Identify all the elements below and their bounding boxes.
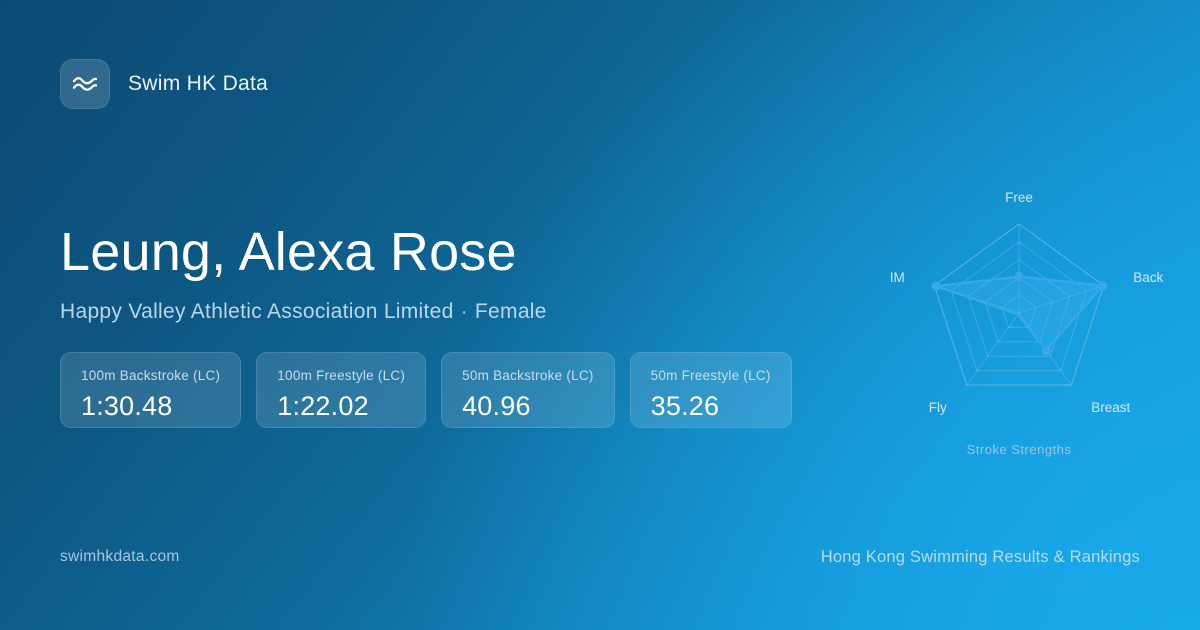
meta-separator: · <box>454 300 475 323</box>
radar-point-breast <box>1042 346 1051 355</box>
stat-value: 35.26 <box>651 393 771 420</box>
list-item: 50m Backstroke (LC) 40.96 <box>441 352 615 428</box>
stat-value: 1:22.02 <box>277 393 405 420</box>
stat-label: 50m Freestyle (LC) <box>651 369 771 383</box>
list-item: 100m Backstroke (LC) 1:30.48 <box>60 352 241 428</box>
stat-label: 100m Freestyle (LC) <box>277 369 405 383</box>
radar-spoke <box>967 313 1019 385</box>
radar-point-back <box>1098 281 1107 290</box>
radar-label-breast: Breast <box>1091 400 1130 415</box>
og-card-canvas: Swim HK Data Leung, Alexa Rose Happy Val… <box>0 0 1200 630</box>
chart-caption: Stroke Strengths <box>869 442 1169 457</box>
list-item: 100m Freestyle (LC) 1:22.02 <box>256 352 426 428</box>
athlete-gender: Female <box>475 300 547 323</box>
radar-label-im: IM <box>890 270 905 285</box>
stat-value: 1:30.48 <box>81 393 220 420</box>
best-times-list: 100m Backstroke (LC) 1:30.48 100m Freest… <box>60 352 792 428</box>
waves-icon <box>60 59 110 109</box>
radar-label-back: Back <box>1133 270 1163 285</box>
page-title: Leung, Alexa Rose <box>60 222 820 284</box>
athlete-header: Leung, Alexa Rose Happy Valley Athletic … <box>60 222 820 324</box>
athlete-meta: Happy Valley Athletic Association Limite… <box>60 300 820 324</box>
list-item: 50m Freestyle (LC) 35.26 <box>630 352 792 428</box>
footer-site-url: swimhkdata.com <box>60 548 180 566</box>
brand-lockup: Swim HK Data <box>60 59 268 109</box>
brand-name: Swim HK Data <box>128 72 268 96</box>
footer-tagline: Hong Kong Swimming Results & Rankings <box>821 548 1140 567</box>
radar-point-free <box>1014 272 1023 281</box>
radar-point-im <box>931 281 940 290</box>
athlete-club: Happy Valley Athletic Association Limite… <box>60 300 454 323</box>
radar-label-free: Free <box>1005 190 1033 205</box>
stat-value: 40.96 <box>462 393 594 420</box>
stat-label: 100m Backstroke (LC) <box>81 369 220 383</box>
stat-label: 50m Backstroke (LC) <box>462 369 594 383</box>
stroke-strengths-radar-chart: FreeBackBreastFlyIM Stroke Strengths <box>869 170 1169 470</box>
radar-label-fly: Fly <box>929 400 947 415</box>
radar-data-area <box>936 277 1103 351</box>
